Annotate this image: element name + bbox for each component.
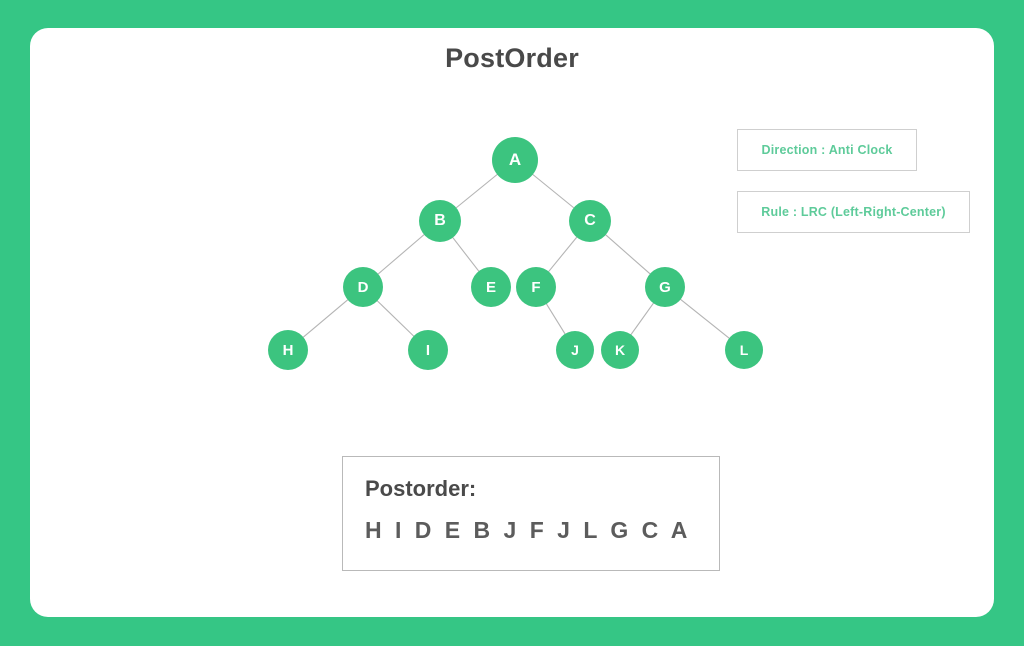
tree-edge-g-k bbox=[630, 302, 653, 335]
tree-node-label: E bbox=[486, 279, 496, 296]
tree-node-label: K bbox=[615, 342, 625, 358]
tree-edge-f-j bbox=[546, 303, 566, 335]
tree-edge-d-i bbox=[377, 300, 415, 337]
tree-node-label: H bbox=[283, 342, 294, 359]
tree-node-c[interactable]: C bbox=[569, 200, 611, 242]
tree-node-l[interactable]: L bbox=[725, 331, 763, 369]
tree-edge-d-h bbox=[303, 299, 349, 338]
tree-node-label: G bbox=[659, 279, 671, 296]
tree-node-i[interactable]: I bbox=[408, 330, 448, 370]
tree-edges-layer bbox=[30, 28, 994, 428]
tree-node-j[interactable]: J bbox=[556, 331, 594, 369]
content-card: PostOrder Direction : Anti Clock Rule : … bbox=[30, 28, 994, 617]
tree-node-g[interactable]: G bbox=[645, 267, 685, 307]
tree-edge-c-g bbox=[605, 234, 651, 274]
tree-node-a[interactable]: A bbox=[492, 137, 538, 183]
tree-edge-b-d bbox=[377, 234, 424, 275]
tree-edge-b-e bbox=[452, 237, 479, 272]
tree-node-label: A bbox=[509, 150, 521, 170]
tree-node-label: B bbox=[434, 212, 446, 230]
tree-node-label: I bbox=[426, 342, 430, 359]
postorder-result-label: Postorder: bbox=[365, 476, 476, 502]
postorder-result-box: Postorder: H I D E B J F J L G C A bbox=[342, 456, 720, 571]
tree-node-label: C bbox=[584, 212, 596, 230]
tree-edge-a-c bbox=[532, 174, 574, 208]
binary-tree-diagram: ABCDEFGHIJKL bbox=[30, 28, 994, 428]
screenshot-root: PostOrder Direction : Anti Clock Rule : … bbox=[0, 0, 1024, 646]
tree-node-e[interactable]: E bbox=[471, 267, 511, 307]
tree-node-label: J bbox=[571, 342, 579, 358]
tree-node-label: F bbox=[531, 279, 540, 296]
tree-node-d[interactable]: D bbox=[343, 267, 383, 307]
tree-node-k[interactable]: K bbox=[601, 331, 639, 369]
tree-edge-c-f bbox=[548, 236, 577, 272]
tree-node-label: D bbox=[358, 279, 369, 296]
postorder-result-sequence: H I D E B J F J L G C A bbox=[365, 517, 691, 544]
tree-node-h[interactable]: H bbox=[268, 330, 308, 370]
tree-node-f[interactable]: F bbox=[516, 267, 556, 307]
tree-node-label: L bbox=[740, 342, 749, 358]
tree-edge-g-l bbox=[680, 299, 730, 339]
tree-edge-a-b bbox=[456, 174, 498, 208]
tree-node-b[interactable]: B bbox=[419, 200, 461, 242]
